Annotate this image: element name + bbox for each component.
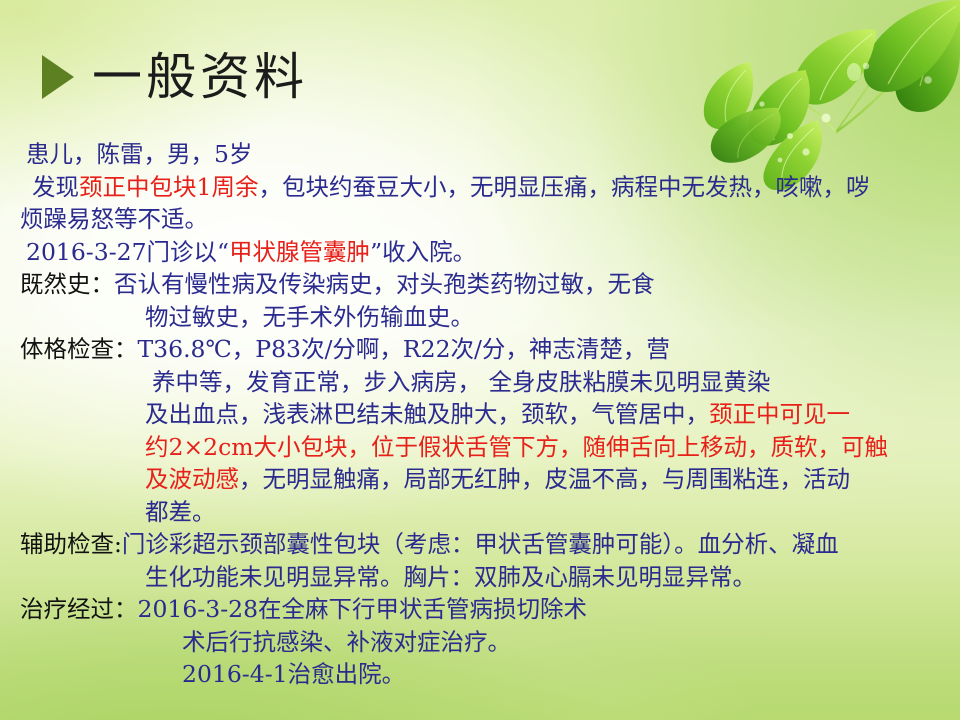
text-line-past-history-cont: 物过敏史，无手术外伤输血史。 — [0, 301, 960, 334]
body-text: 患儿，陈雷，男，5岁 — [26, 140, 252, 168]
body-text: 都差。 — [145, 498, 216, 526]
field-label: 既然史： — [20, 270, 114, 298]
body-text: 生化功能未见明显异常。胸片：双肺及心膈未见明显异常。 — [145, 563, 756, 591]
body-text: ”收入院。 — [370, 238, 476, 266]
text-line-physical-exam-l2: 养中等，发育正常，步入病房， 全身皮肤粘膜未见明显黄染 — [0, 366, 960, 399]
text-line-physical-exam-l5: 及波动感，无明显触痛，局部无红肿，皮温不高，与周围粘连，活动 — [0, 463, 960, 496]
field-label: 辅助检查: — [20, 530, 122, 558]
body-text: 术后行抗感染、补液对症治疗。 — [182, 628, 511, 656]
emphasis-text: 颈正中包块1周余 — [79, 173, 258, 201]
text-line-physical-exam-l3: 及出血点，浅表淋巴结未触及肿大，颈软，气管居中，颈正中可见一 — [0, 398, 960, 431]
text-line-physical-exam: 体格检查：T36.8℃，P83次/分啊，R22次/分，神志清楚，营 — [0, 333, 960, 366]
body-text: ，无明显触痛，局部无红肿，皮温不高，与周围粘连，活动 — [239, 465, 850, 493]
triangle-right-icon — [42, 55, 74, 99]
page-title: 一般资料 — [92, 52, 308, 102]
slide-body-text: 患儿，陈雷，男，5岁发现颈正中包块1周余，包块约蚕豆大小，无明显压痛，病程中无发… — [0, 138, 960, 691]
body-text: 2016-4-1治愈出院。 — [182, 660, 405, 688]
body-text: 2016-3-28在全麻下行甲状舌管病损切除术 — [138, 595, 588, 623]
body-text: 2016-3-27门诊以“ — [26, 238, 229, 266]
presentation-slide: 一般资料 患儿，陈雷，男，5岁发现颈正中包块1周余，包块约蚕豆大小，无明显压痛，… — [0, 0, 960, 720]
text-line-treatment-l2: 术后行抗感染、补液对症治疗。 — [0, 626, 960, 659]
body-text: 及出血点，浅表淋巴结未触及肿大，颈软，气管居中， — [145, 400, 709, 428]
field-label: 治疗经过： — [20, 595, 138, 623]
text-line-chief-complaint-cont: 烦躁易怒等不适。 — [0, 203, 960, 236]
body-text: 发现 — [32, 173, 79, 201]
text-line-treatment-l3: 2016-4-1治愈出院。 — [0, 658, 960, 691]
body-text: 否认有慢性病及传染病史，对头孢类药物过敏，无食 — [114, 270, 655, 298]
text-line-chief-complaint: 发现颈正中包块1周余，包块约蚕豆大小，无明显压痛，病程中无发热，咳嗽，哕 — [0, 171, 960, 204]
text-line-past-history: 既然史：否认有慢性病及传染病史，对头孢类药物过敏，无食 — [0, 268, 960, 301]
slide-title: 一般资料 — [42, 52, 308, 102]
emphasis-text: 甲状腺管囊肿 — [229, 238, 370, 266]
body-text: 物过敏史，无手术外伤输血史。 — [145, 303, 474, 331]
body-text: 养中等，发育正常，步入病房， 全身皮肤粘膜未见明显黄染 — [152, 368, 770, 396]
text-line-treatment: 治疗经过：2016-3-28在全麻下行甲状舌管病损切除术 — [0, 593, 960, 626]
field-label: 体格检查： — [20, 335, 138, 363]
body-text: 烦躁易怒等不适。 — [20, 205, 208, 233]
text-line-admission: 2016-3-27门诊以“甲状腺管囊肿”收入院。 — [0, 236, 960, 269]
text-line-patient-identity: 患儿，陈雷，男，5岁 — [0, 138, 960, 171]
body-text: T36.8℃，P83次/分啊，R22次/分，神志清楚，营 — [138, 335, 670, 363]
text-line-auxiliary-exam: 辅助检查:门诊彩超示颈部囊性包块（考虑：甲状舌管囊肿可能）。血分析、凝血 — [0, 528, 960, 561]
text-line-physical-exam-l4: 约2×2cm大小包块，位于假状舌管下方，随伸舌向上移动，质软，可触 — [0, 431, 960, 464]
emphasis-text: 颈正中可见一 — [709, 400, 850, 428]
text-line-physical-exam-l6: 都差。 — [0, 496, 960, 529]
emphasis-text: 约2×2cm大小包块，位于假状舌管下方，随伸舌向上移动，质软，可触 — [145, 433, 888, 461]
emphasis-text: 及波动感 — [145, 465, 239, 493]
body-text: 门诊彩超示颈部囊性包块（考虑：甲状舌管囊肿可能）。血分析、凝血 — [122, 530, 839, 558]
text-line-auxiliary-exam-cont: 生化功能未见明显异常。胸片：双肺及心膈未见明显异常。 — [0, 561, 960, 594]
body-text: ，包块约蚕豆大小，无明显压痛，病程中无发热，咳嗽，哕 — [258, 173, 869, 201]
